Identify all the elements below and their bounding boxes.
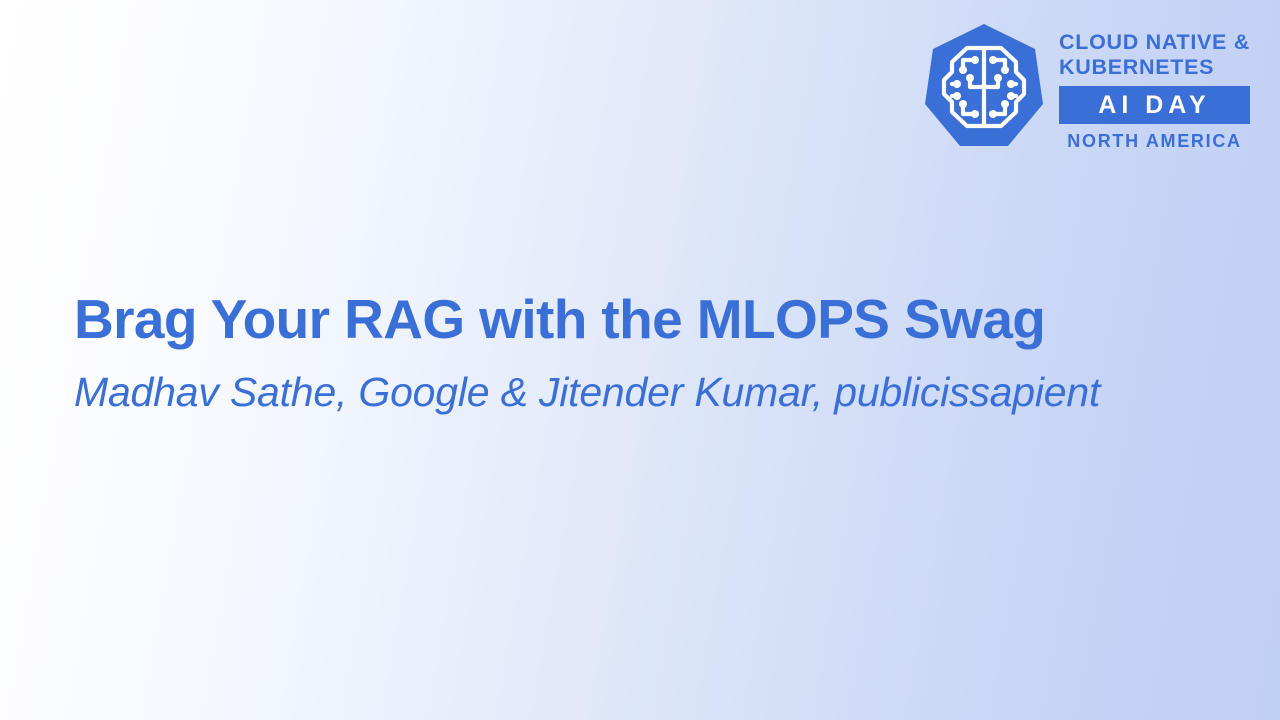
session-title: Brag Your RAG with the MLOPS Swag	[74, 286, 1200, 352]
event-region-label: NORTH AMERICA	[1059, 131, 1250, 151]
session-info: Brag Your RAG with the MLOPS Swag Madhav…	[74, 286, 1200, 418]
slide-canvas: CLOUD NATIVE & KUBERNETES AI DAY NORTH A…	[0, 0, 1280, 720]
event-name-line-2: KUBERNETES	[1059, 55, 1250, 80]
event-logo: CLOUD NATIVE & KUBERNETES AI DAY NORTH A…	[923, 22, 1250, 151]
event-wordmark: CLOUD NATIVE & KUBERNETES AI DAY NORTH A…	[1059, 22, 1250, 151]
session-speakers: Madhav Sathe, Google & Jitender Kumar, p…	[74, 366, 1200, 418]
kubernetes-brain-icon	[923, 22, 1045, 150]
ai-day-badge: AI DAY	[1059, 86, 1250, 124]
event-name-line-1: CLOUD NATIVE &	[1059, 30, 1250, 55]
